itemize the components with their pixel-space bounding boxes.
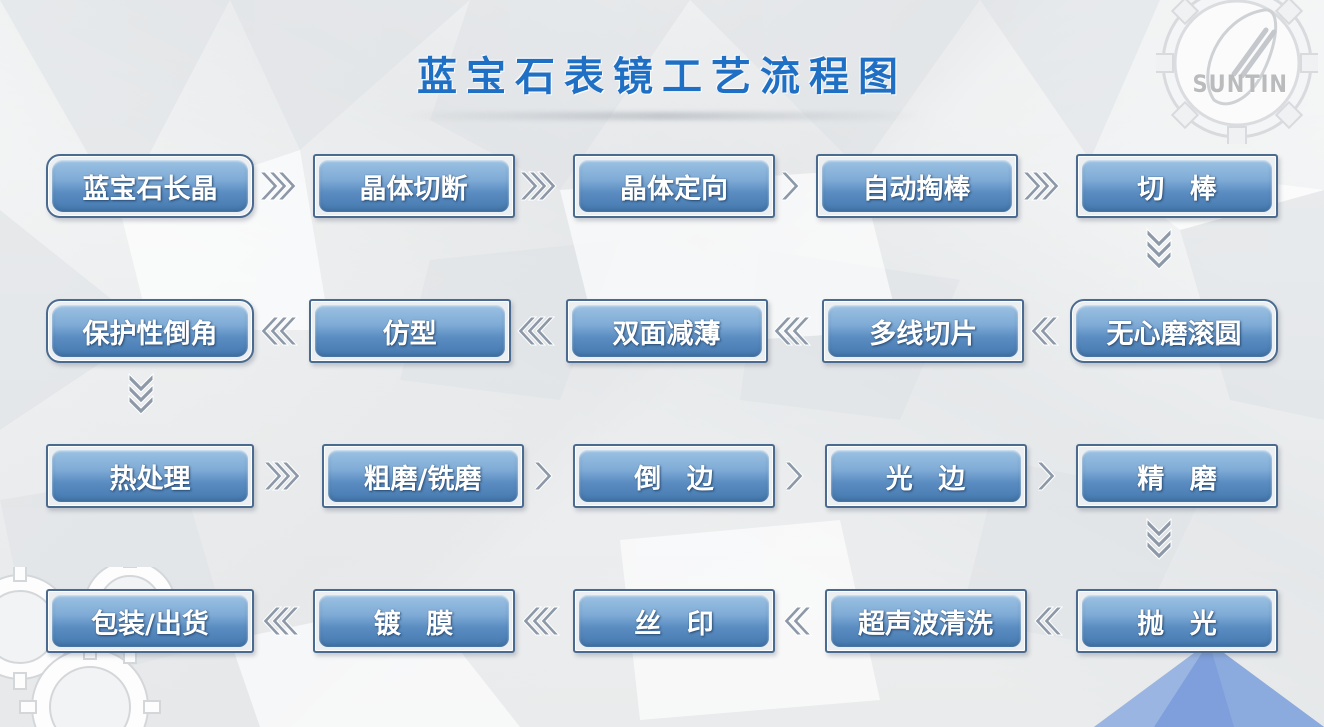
process-step-label: 晶体切断 [346,167,482,206]
flow-rows: 蓝宝石长晶晶体切断晶体定向自动掏棒切 棒保护性倒角仿型双面减薄多线切片无心磨滚圆… [0,146,1324,726]
process-step-label: 多线切片 [855,312,991,351]
process-box-inner: 热处理 [52,450,248,502]
process-step[interactable]: 无心磨滚圆 [1070,299,1278,363]
process-step-label: 丝 印 [620,602,727,641]
chevron-right-icon [775,459,825,493]
process-box[interactable]: 蓝宝石长晶 [46,154,254,218]
process-step[interactable]: 光 边 [825,444,1027,508]
process-box-inner: 切 棒 [1082,160,1272,212]
process-box[interactable]: 保护性倒角 [46,299,254,363]
process-box-inner: 晶体定向 [579,160,769,212]
flow-row-steps: 包装/出货镀 膜丝 印超声波清洗抛 光 [46,581,1278,661]
flow-row-steps: 热处理粗磨/铣磨倒 边光 边精 磨 [46,436,1278,516]
process-box[interactable]: 镀 膜 [313,589,515,653]
process-step-label: 精 磨 [1123,457,1230,496]
chevron-down-icon [1142,516,1182,568]
page-title-wrap: 蓝宝石表镜工艺流程图 [0,44,1324,108]
chevron-left-icon [1024,314,1070,348]
chevron-left-icon [775,604,825,638]
process-box-inner: 晶体切断 [319,160,509,212]
flow-row: 保护性倒角仿型双面减薄多线切片无心磨滚圆 [0,291,1324,436]
process-step[interactable]: 晶体切断 [313,154,515,218]
process-box-inner: 抛 光 [1082,595,1272,647]
process-box-inner: 保护性倒角 [52,305,248,357]
process-step[interactable]: 包装/出货 [46,589,254,653]
process-box-inner: 镀 膜 [319,595,509,647]
process-step-label: 无心磨滚圆 [1093,312,1256,351]
chevron-left-icon [1027,604,1077,638]
process-step-label: 自动掏棒 [849,167,985,206]
process-box-inner: 蓝宝石长晶 [52,160,248,212]
process-box[interactable]: 晶体定向 [573,154,775,218]
process-box-inner: 粗磨/铣磨 [328,450,518,502]
process-box[interactable]: 切 棒 [1076,154,1278,218]
process-box-inner: 倒 边 [579,450,769,502]
process-step[interactable]: 丝 印 [573,589,775,653]
process-box-inner: 多线切片 [828,305,1018,357]
chevron-right-icon [254,169,313,203]
process-box-inner: 光 边 [831,450,1021,502]
process-step-label: 光 边 [872,457,979,496]
process-step[interactable]: 晶体定向 [573,154,775,218]
process-box-inner: 超声波清洗 [831,595,1021,647]
process-box[interactable]: 抛 光 [1076,589,1278,653]
process-box[interactable]: 自动掏棒 [816,154,1018,218]
process-step[interactable]: 多线切片 [822,299,1024,363]
process-step[interactable]: 超声波清洗 [825,589,1027,653]
page-title: 蓝宝石表镜工艺流程图 [417,44,907,108]
process-box[interactable]: 多线切片 [822,299,1024,363]
process-step-label: 镀 膜 [360,602,467,641]
process-step-label: 包装/出货 [77,602,223,641]
process-step-label: 保护性倒角 [69,312,232,351]
process-box[interactable]: 包装/出货 [46,589,254,653]
process-box-inner: 无心磨滚圆 [1076,305,1272,357]
process-box[interactable]: 无心磨滚圆 [1070,299,1278,363]
process-step[interactable]: 粗磨/铣磨 [322,444,524,508]
chevron-left-icon [511,314,566,348]
process-step[interactable]: 自动掏棒 [816,154,1018,218]
process-step-label: 双面减薄 [599,312,735,351]
process-step-label: 蓝宝石长晶 [69,167,232,206]
flow-row: 蓝宝石长晶晶体切断晶体定向自动掏棒切 棒 [0,146,1324,291]
process-step[interactable]: 仿型 [309,299,511,363]
flow-row: 包装/出货镀 膜丝 印超声波清洗抛 光 [0,581,1324,726]
process-box[interactable]: 超声波清洗 [825,589,1027,653]
process-box[interactable]: 晶体切断 [313,154,515,218]
process-box[interactable]: 倒 边 [573,444,775,508]
process-step[interactable]: 热处理 [46,444,254,508]
process-step-label: 粗磨/铣磨 [350,457,496,496]
process-step[interactable]: 双面减薄 [566,299,768,363]
process-step[interactable]: 抛 光 [1076,589,1278,653]
process-step[interactable]: 切 棒 [1076,154,1278,218]
process-box[interactable]: 光 边 [825,444,1027,508]
process-box[interactable]: 丝 印 [573,589,775,653]
process-box-inner: 仿型 [315,305,505,357]
process-step-label: 晶体定向 [606,167,742,206]
chevron-left-icon [768,314,823,348]
flowchart-canvas: SUNTIN 蓝宝石表镜工艺流程图 蓝宝石长晶晶体切断晶体定向自动掏棒切 棒保护… [0,0,1324,727]
process-box[interactable]: 热处理 [46,444,254,508]
process-box-inner: 自动掏棒 [822,160,1012,212]
process-step[interactable]: 蓝宝石长晶 [46,154,254,218]
chevron-right-icon [775,169,816,203]
chevron-left-icon [254,604,313,638]
chevron-right-icon [1027,459,1077,493]
chevron-left-icon [515,604,574,638]
title-underline [402,112,922,120]
process-box[interactable]: 仿型 [309,299,511,363]
chevron-right-icon [1018,169,1077,203]
chevron-down-icon [1142,226,1182,278]
process-step[interactable]: 精 磨 [1076,444,1278,508]
process-step-label: 切 棒 [1123,167,1230,206]
process-step-label: 仿型 [369,312,451,351]
process-box-inner: 双面减薄 [572,305,762,357]
process-step-label: 热处理 [96,457,205,496]
process-box[interactable]: 粗磨/铣磨 [322,444,524,508]
process-box-inner: 包装/出货 [52,595,248,647]
process-box-inner: 精 磨 [1082,450,1272,502]
process-box-inner: 丝 印 [579,595,769,647]
chevron-down-icon [124,371,164,423]
flow-row: 热处理粗磨/铣磨倒 边光 边精 磨 [0,436,1324,581]
flow-row-steps: 保护性倒角仿型双面减薄多线切片无心磨滚圆 [46,291,1278,371]
process-step[interactable]: 镀 膜 [313,589,515,653]
chevron-right-icon [515,169,574,203]
process-step-label: 倒 边 [620,457,727,496]
process-step-label: 抛 光 [1123,602,1230,641]
chevron-right-icon [254,459,322,493]
process-step[interactable]: 倒 边 [573,444,775,508]
process-box[interactable]: 精 磨 [1076,444,1278,508]
chevron-left-icon [254,314,309,348]
process-box[interactable]: 双面减薄 [566,299,768,363]
chevron-right-icon [524,459,574,493]
process-step-label: 超声波清洗 [844,602,1007,641]
flow-row-steps: 蓝宝石长晶晶体切断晶体定向自动掏棒切 棒 [46,146,1278,226]
process-step[interactable]: 保护性倒角 [46,299,254,363]
